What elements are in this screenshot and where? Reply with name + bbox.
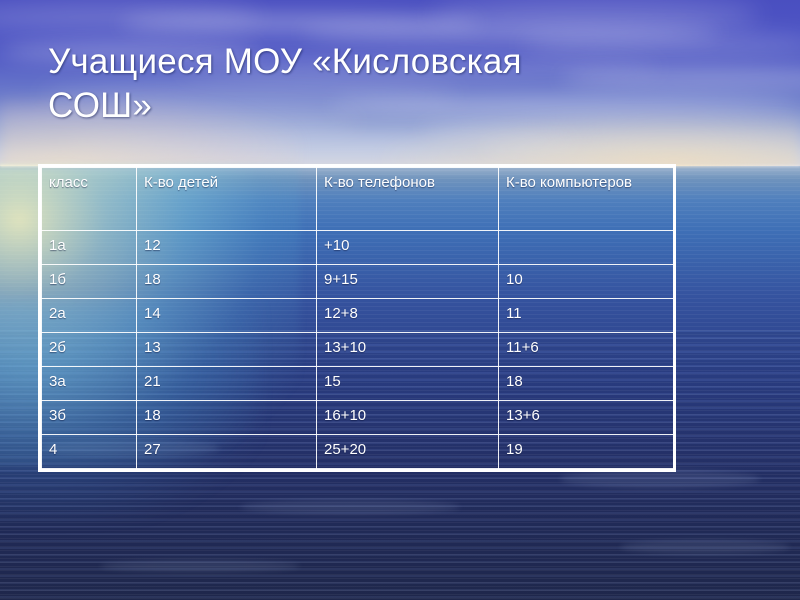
cell-children: 13: [137, 333, 317, 367]
cell-computers: 19: [499, 435, 674, 469]
cell-children: 12: [137, 231, 317, 265]
cell-class: 4: [42, 435, 137, 469]
cell-phones: 15: [317, 367, 499, 401]
table-header-row: класс К-во детей К-во телефонов К-во ком…: [42, 168, 674, 231]
cell-computers: 10: [499, 265, 674, 299]
cell-computers: [499, 231, 674, 265]
table-row: 1б 18 9+15 10: [42, 265, 674, 299]
col-header-class: класс: [42, 168, 137, 231]
students-table-container: класс К-во детей К-во телефонов К-во ком…: [38, 164, 676, 472]
water-highlight: [240, 500, 460, 514]
cell-class: 3б: [42, 401, 137, 435]
slide-title: Учащиеся МОУ «Кисловская СОШ»: [48, 40, 688, 128]
cell-computers: 13+6: [499, 401, 674, 435]
col-header-phones: К-во телефонов: [317, 168, 499, 231]
cell-children: 27: [137, 435, 317, 469]
cell-computers: 11: [499, 299, 674, 333]
cell-children: 18: [137, 265, 317, 299]
cell-phones: 16+10: [317, 401, 499, 435]
students-table: класс К-во детей К-во телефонов К-во ком…: [41, 167, 674, 469]
col-header-children: К-во детей: [137, 168, 317, 231]
cell-children: 21: [137, 367, 317, 401]
cell-computers: 18: [499, 367, 674, 401]
cell-phones: 12+8: [317, 299, 499, 333]
table-row: 1а 12 +10: [42, 231, 674, 265]
cell-class: 2а: [42, 299, 137, 333]
table-row: 2а 14 12+8 11: [42, 299, 674, 333]
water-highlight: [100, 560, 300, 572]
cell-class: 2б: [42, 333, 137, 367]
cell-class: 3а: [42, 367, 137, 401]
water-highlight: [560, 470, 760, 488]
cell-class: 1б: [42, 265, 137, 299]
table-body: 1а 12 +10 1б 18 9+15 10 2а 14 12+8 11: [42, 231, 674, 469]
cell-phones: 25+20: [317, 435, 499, 469]
cell-children: 18: [137, 401, 317, 435]
table-row: 3б 18 16+10 13+6: [42, 401, 674, 435]
cell-class: 1а: [42, 231, 137, 265]
table-header: класс К-во детей К-во телефонов К-во ком…: [42, 168, 674, 231]
cell-children: 14: [137, 299, 317, 333]
table-row: 4 27 25+20 19: [42, 435, 674, 469]
slide-canvas: Учащиеся МОУ «Кисловская СОШ» класс К-во…: [0, 0, 800, 600]
cell-phones: 9+15: [317, 265, 499, 299]
table-row: 2б 13 13+10 11+6: [42, 333, 674, 367]
water-highlight: [620, 540, 790, 554]
col-header-computers: К-во компьютеров: [499, 168, 674, 231]
cell-phones: +10: [317, 231, 499, 265]
cell-computers: 11+6: [499, 333, 674, 367]
table-row: 3а 21 15 18: [42, 367, 674, 401]
cell-phones: 13+10: [317, 333, 499, 367]
